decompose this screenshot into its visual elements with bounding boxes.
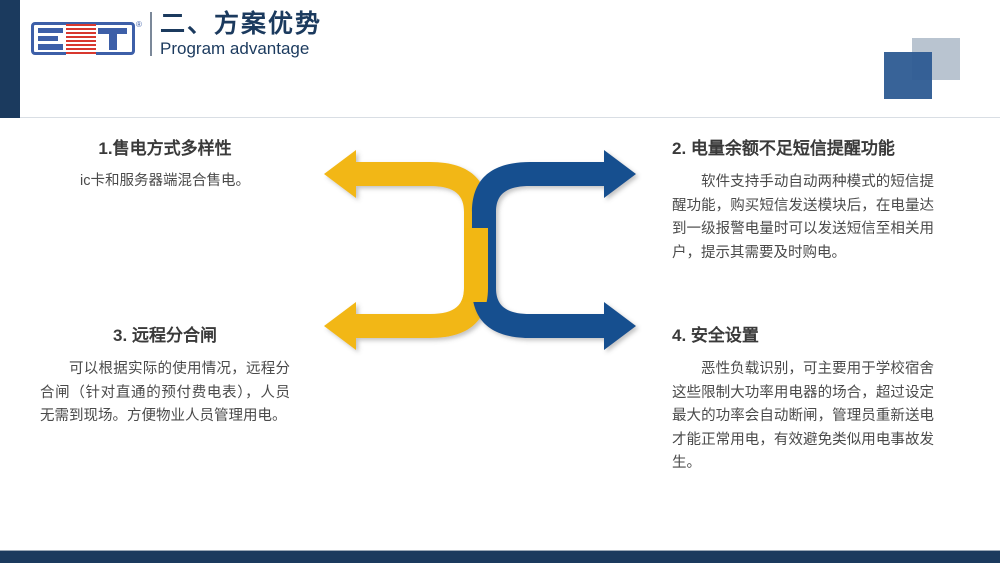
logo-letter-n-icon (66, 24, 96, 55)
header-accent-bar (0, 0, 20, 118)
page-title: 二、方案优势 (160, 11, 322, 37)
registered-trademark-icon: ® (136, 21, 142, 29)
feature-4-body: 恶性负载识别，可主要用于学校宿舍这些限制大功率用电器的场合，超过设定最大的功率会… (672, 358, 934, 475)
slide-canvas: ® 二、方案优势 Program advantage (0, 0, 1000, 563)
feature-block-3: 3. 远程分合闸 可以根据实际的使用情况，远程分合闸（针对直通的预付费电表），人… (40, 325, 290, 429)
logo-letter-t-icon (98, 28, 127, 50)
header-divider (20, 117, 1000, 118)
arrow-blue-path (472, 150, 636, 350)
footer-bar (0, 551, 1000, 563)
decorative-square-dark (884, 52, 932, 99)
feature-2-body: 软件支持手动自动两种模式的短信提醒功能，购买短信发送模块后，在电量达到一级报警电… (672, 171, 934, 265)
feature-1-title: 1.售电方式多样性 (40, 138, 290, 160)
feature-block-4: 4. 安全设置 恶性负载识别，可主要用于学校宿舍这些限制大功率用电器的场合，超过… (672, 325, 934, 476)
feature-block-2: 2. 电量余额不足短信提醒功能 软件支持手动自动两种模式的短信提醒功能，购买短信… (672, 138, 934, 265)
interlocking-arrows-diagram (290, 130, 670, 370)
ent-logo: ® (31, 19, 139, 61)
logo-letter-e-icon (38, 28, 63, 50)
feature-3-body: 可以根据实际的使用情况，远程分合闸（针对直通的预付费电表），人员无需到现场。方便… (40, 358, 290, 428)
feature-3-title: 3. 远程分合闸 (40, 325, 290, 347)
page-subtitle: Program advantage (160, 40, 309, 59)
feature-block-1: 1.售电方式多样性 ic卡和服务器端混合售电。 (40, 138, 290, 194)
feature-4-title: 4. 安全设置 (672, 325, 934, 347)
feature-1-body: ic卡和服务器端混合售电。 (40, 170, 290, 193)
feature-2-title: 2. 电量余额不足短信提醒功能 (672, 138, 934, 160)
title-separator (150, 12, 152, 56)
arrow-yellow-path (324, 150, 488, 350)
